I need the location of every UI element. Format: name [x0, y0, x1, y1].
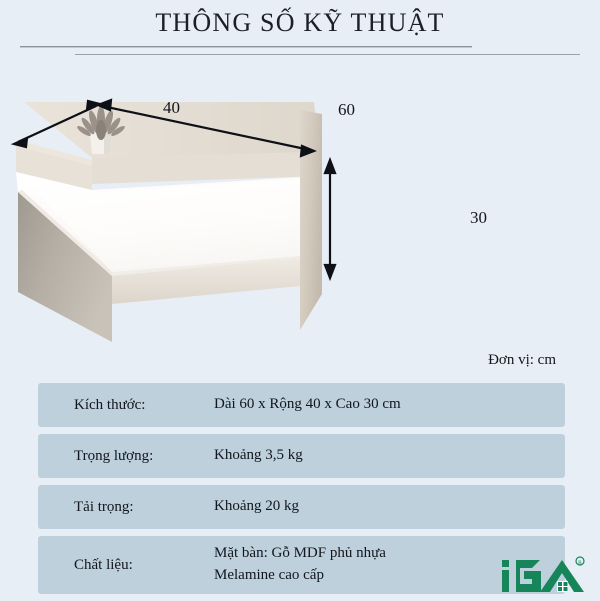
infographic-page: THÔNG SỐ KỸ THUẬT — [0, 0, 600, 600]
spec-label: Chất liệu: — [38, 557, 214, 574]
spec-label: Tải trọng: — [38, 499, 214, 516]
spec-table: Kích thước: Dài 60 x Rộng 40 x Cao 30 cm… — [38, 383, 565, 601]
header-divider-upper — [20, 46, 472, 48]
spec-value-line: Dài 60 x Rộng 40 x Cao 30 cm — [214, 394, 565, 416]
dimension-label-height: 30 — [470, 208, 487, 228]
table-row: Tải trọng: Khoảng 20 kg — [38, 485, 565, 529]
spec-value: Khoảng 3,5 kg — [214, 445, 565, 467]
dimension-label-depth: 40 — [163, 98, 180, 118]
logo-trademark-glyph: R — [578, 560, 582, 566]
header-divider-lower — [75, 54, 580, 55]
spec-value-line: Khoảng 3,5 kg — [214, 445, 565, 467]
iga-logo: R — [500, 556, 586, 596]
page-title: THÔNG SỐ KỸ THUẬT — [0, 8, 600, 38]
spec-value: Khoảng 20 kg — [214, 496, 565, 518]
product-illustration — [0, 80, 600, 355]
table-right-side-panel — [300, 110, 322, 330]
spec-value: Dài 60 x Rộng 40 x Cao 30 cm — [214, 394, 565, 416]
logo-letter-i-stem — [502, 570, 509, 592]
logo-letter-g — [516, 560, 541, 592]
unit-note: Đơn vị: cm — [488, 352, 556, 369]
spec-value-line: Khoảng 20 kg — [214, 496, 565, 518]
spec-label: Kích thước: — [38, 397, 214, 414]
spec-label: Trọng lượng: — [38, 448, 214, 465]
table-row: Trọng lượng: Khoảng 3,5 kg — [38, 434, 565, 478]
table-row: Kích thước: Dài 60 x Rộng 40 x Cao 30 cm — [38, 383, 565, 427]
dimension-label-width: 60 — [338, 100, 355, 120]
logo-letter-i-dot — [502, 560, 509, 567]
table-row: Chất liệu: Mặt bàn: Gỗ MDF phủ nhựa Mela… — [38, 536, 565, 594]
